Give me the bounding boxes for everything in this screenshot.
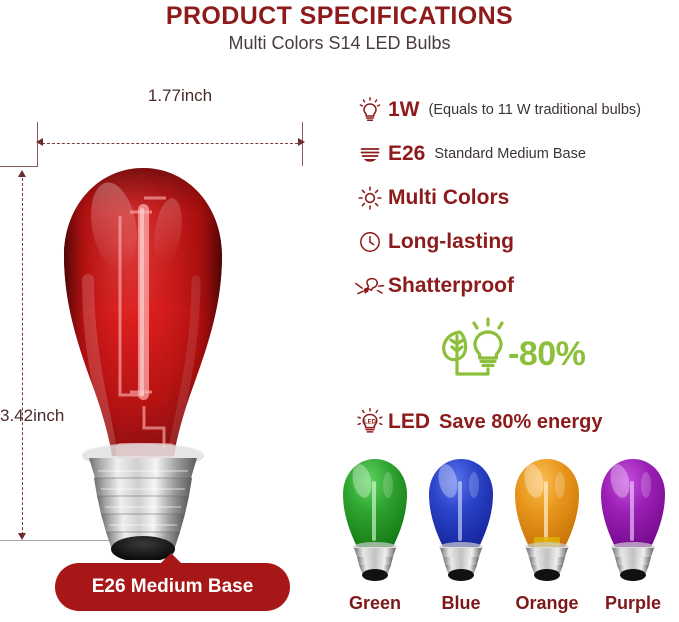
spec-row-shatterproof: Shatterproof — [352, 264, 679, 308]
sun-icon — [352, 183, 388, 213]
purple-bulb-icon — [594, 455, 672, 585]
spec-key-lifespan: Long-lasting — [388, 230, 514, 254]
shatterproof-icon — [352, 271, 388, 301]
led-energy-row: LED LED Save 80% energy — [352, 400, 679, 444]
color-variant-green[interactable]: Green — [336, 455, 414, 585]
orange-bulb-icon — [508, 455, 586, 585]
color-label-purple: Purple — [594, 593, 672, 614]
blue-bulb-icon — [422, 455, 500, 585]
screw-base-icon — [352, 139, 388, 169]
energy-saving-percent: -80% — [508, 335, 585, 374]
spec-row-colors: Multi Colors — [352, 176, 679, 220]
leaf-bulb-eco-icon — [436, 314, 512, 395]
spec-value-base: Standard Medium Base — [434, 146, 586, 162]
e26-medium-base-badge: E26 Medium Base — [55, 563, 290, 611]
width-arrow-left-icon — [36, 138, 43, 146]
green-bulb-icon — [336, 455, 414, 585]
svg-text:LED: LED — [364, 419, 377, 425]
specification-list: 1W (Equals to 11 W traditional bulbs) E2… — [352, 88, 679, 308]
spec-row-wattage: 1W (Equals to 11 W traditional bulbs) — [352, 88, 679, 132]
color-label-green: Green — [336, 593, 414, 614]
spec-row-lifespan: Long-lasting — [352, 220, 679, 264]
spec-key-shatterproof: Shatterproof — [388, 274, 514, 298]
color-variant-blue[interactable]: Blue — [422, 455, 500, 585]
color-label-blue: Blue — [422, 593, 500, 614]
clock-icon — [352, 227, 388, 257]
page-subtitle: Multi Colors S14 LED Bulbs — [0, 33, 679, 54]
color-label-orange: Orange — [508, 593, 586, 614]
spec-key-base: E26 — [388, 142, 425, 166]
lightbulb-icon — [352, 95, 388, 125]
led-bulb-icon: LED — [352, 407, 388, 437]
spec-key-colors: Multi Colors — [388, 186, 509, 210]
spec-row-base: E26 Standard Medium Base — [352, 132, 679, 176]
height-arrow-bottom-icon — [18, 533, 26, 540]
height-arrow-top-icon — [18, 170, 26, 177]
width-dimension-line — [42, 143, 298, 144]
height-dimension-line — [22, 178, 23, 535]
color-variant-orange[interactable]: Orange — [508, 455, 586, 585]
energy-saving-badge: -80% — [436, 315, 596, 393]
color-variant-purple[interactable]: Purple — [594, 455, 672, 585]
spec-key-led: LED — [388, 410, 430, 434]
spec-row-led: LED LED Save 80% energy — [352, 400, 679, 444]
spec-key-wattage: 1W — [388, 98, 420, 122]
width-dimension-label: 1.77inch — [110, 86, 250, 106]
main-product-bulb-image — [48, 160, 238, 560]
color-variants-group: Green Blue — [336, 455, 679, 622]
height-reference-line-top — [0, 166, 38, 167]
e26-badge-label: E26 Medium Base — [92, 576, 254, 598]
spec-value-wattage: (Equals to 11 W traditional bulbs) — [429, 102, 642, 118]
spec-value-led: Save 80% energy — [439, 411, 602, 434]
width-arrow-right-icon — [298, 138, 305, 146]
page-title: PRODUCT SPECIFICATIONS — [0, 2, 679, 31]
